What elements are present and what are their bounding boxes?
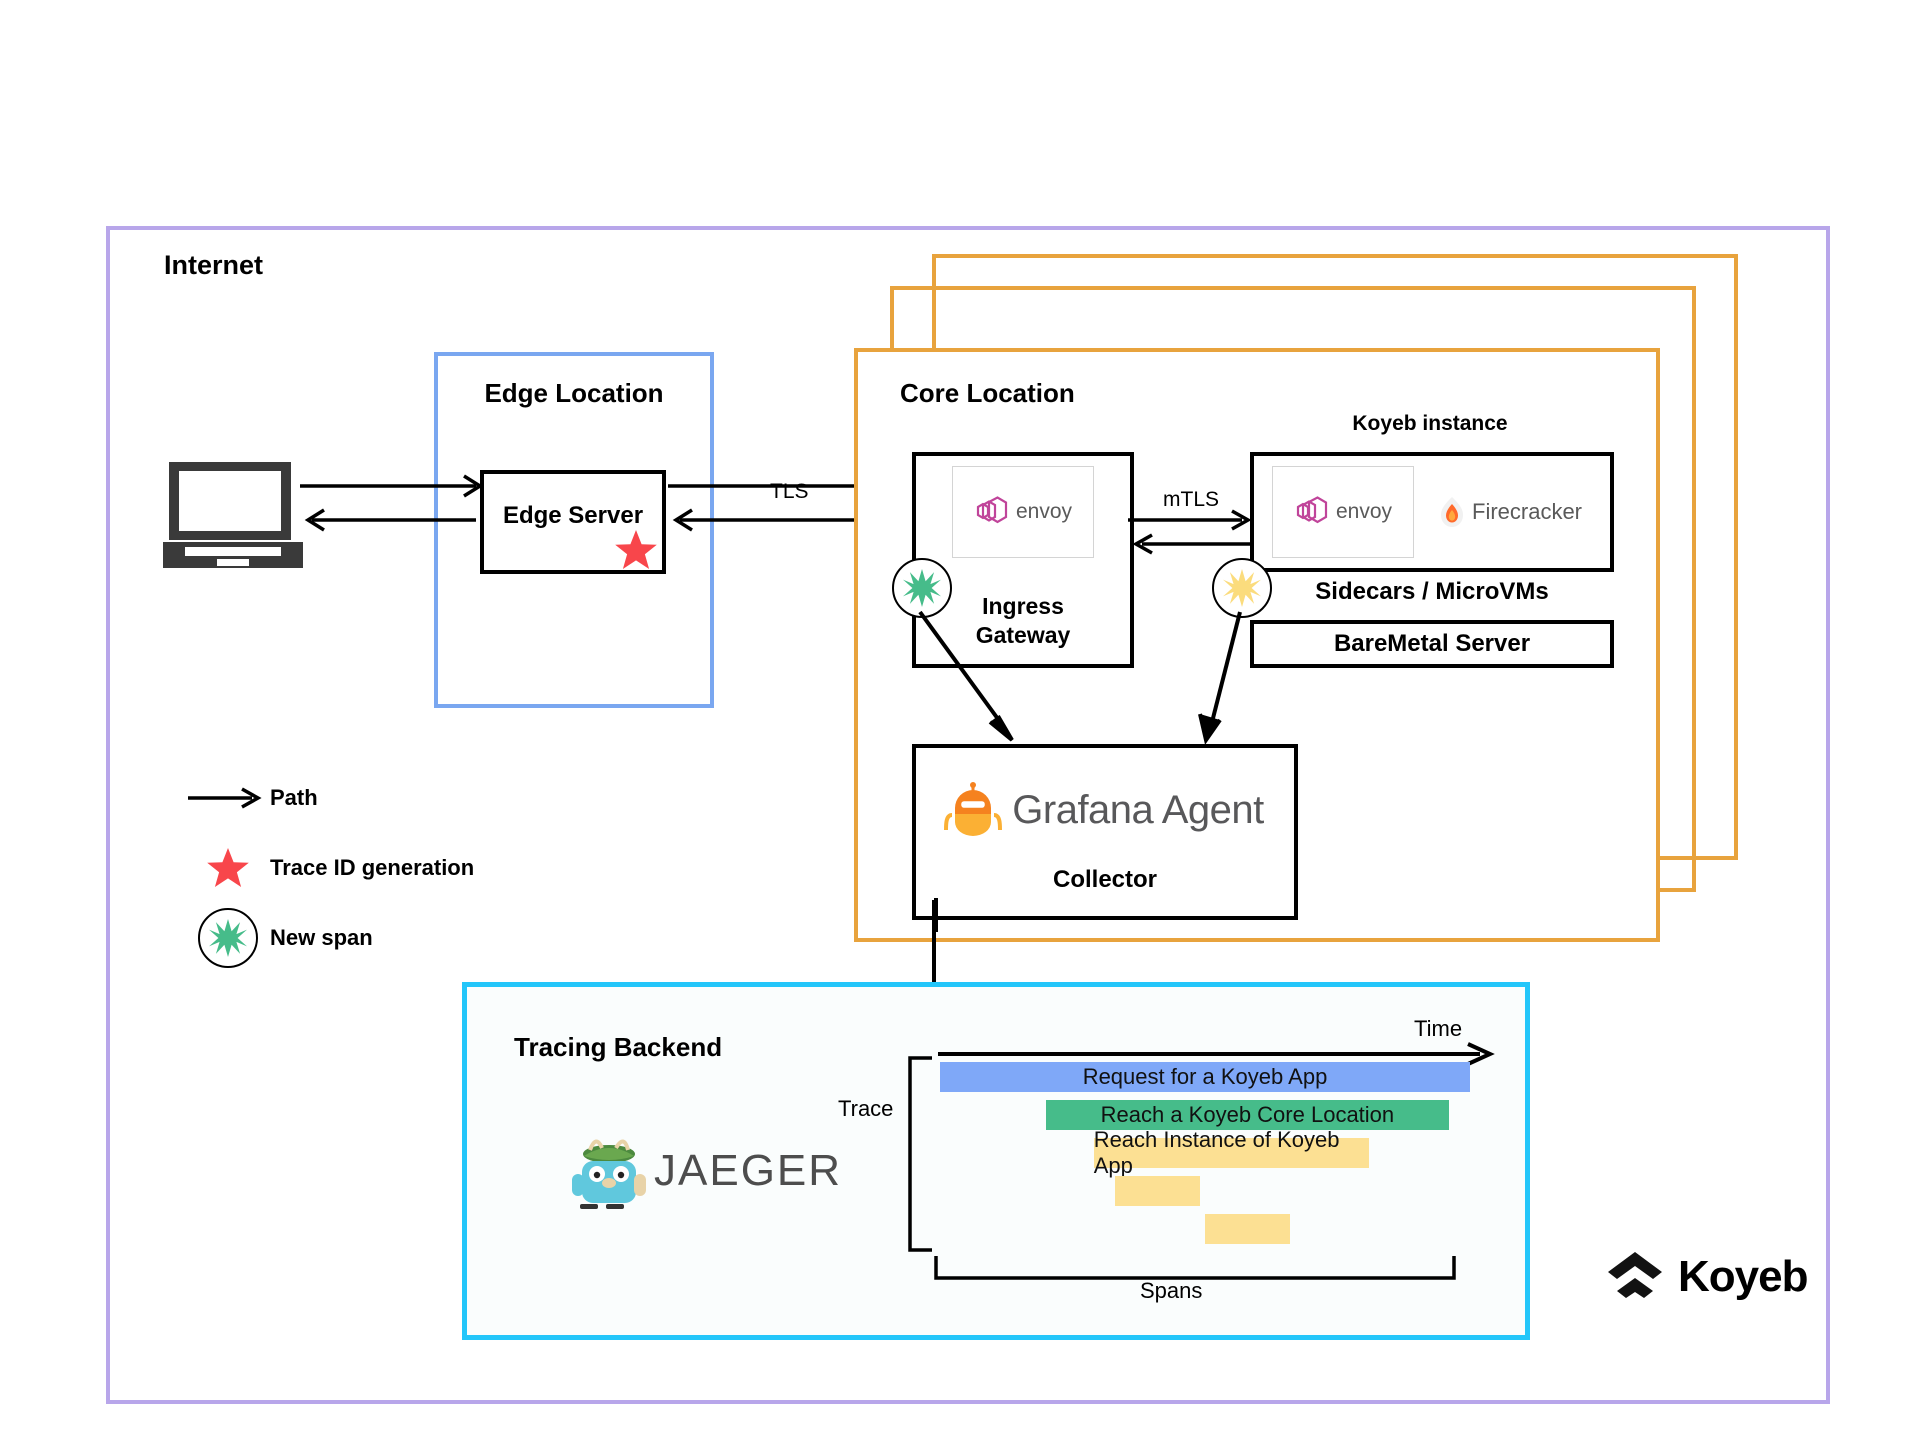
collector-label: Collector [912, 866, 1298, 894]
new-span-star-icon [1223, 569, 1261, 607]
span-bar: Reach a Koyeb Core Location [1046, 1100, 1449, 1130]
koyeb-wordmark: Koyeb [1678, 1252, 1807, 1302]
client-laptop-icon [163, 460, 303, 570]
internet-label: Internet [164, 250, 263, 281]
sidecars-microvms-label: Sidecars / MicroVMs [1250, 578, 1614, 606]
edge-server-label: Edge Server [480, 502, 666, 530]
new-span-star-icon [209, 919, 247, 957]
envoy-logo-sidecar: envoy [1272, 466, 1414, 558]
envoy-hexagon-icon [974, 496, 1010, 528]
envoy-hexagon-icon [1294, 496, 1330, 528]
legend-item-path: Path [186, 770, 606, 826]
legend-label-path: Path [270, 785, 318, 811]
grafana-agent-robot-icon [946, 782, 1000, 838]
laptop-to-edge-arrows [300, 470, 490, 545]
koyeb-chevron-icon [1606, 1248, 1664, 1306]
trace-id-generation-star-icon [614, 528, 658, 572]
span-bar: Reach Instance of Koyeb App [1094, 1138, 1370, 1168]
envoy-wordmark: envoy [1336, 500, 1392, 524]
jaeger-gopher-icon [566, 1128, 652, 1214]
jaeger-wordmark: JAEGER [654, 1146, 842, 1196]
firecracker-logo: Firecracker [1438, 496, 1582, 528]
new-span-badge-sidecar [1212, 558, 1272, 618]
new-span-star-icon [903, 569, 941, 607]
envoy-logo-ingress: envoy [952, 466, 1094, 558]
new-span-badge-icon [186, 908, 270, 968]
core-location-title: Core Location [900, 378, 1075, 409]
koyeb-instance-title: Koyeb instance [1250, 412, 1610, 436]
legend-item-trace-id: Trace ID generation [186, 840, 606, 896]
span-bar-chart: Request for a Koyeb AppReach a Koyeb Cor… [940, 1062, 1470, 1252]
edge-location-title: Edge Location [434, 378, 714, 409]
legend-label-trace-id: Trace ID generation [270, 855, 474, 881]
koyeb-brand-logo: Koyeb [1606, 1248, 1807, 1306]
span-bar [1205, 1214, 1290, 1244]
time-axis-label: Time [1414, 1016, 1462, 1042]
jaeger-logo: JAEGER [566, 1128, 842, 1214]
grafana-agent-wordmark: Grafana Agent [1012, 788, 1263, 833]
new-span-circle [198, 908, 258, 968]
trace-bracket-label: Trace [838, 1096, 893, 1122]
envoy-wordmark: envoy [1016, 500, 1072, 524]
trace-bracket [906, 1056, 936, 1257]
span-bar: Request for a Koyeb App [940, 1062, 1470, 1092]
tracing-backend-title: Tracing Backend [514, 1032, 722, 1063]
legend-label-new-span: New span [270, 925, 373, 951]
ingress-to-sidecar-arrows [1128, 506, 1258, 559]
firecracker-wordmark: Firecracker [1472, 499, 1582, 525]
path-arrow-icon [186, 787, 270, 809]
trace-id-generation-star-icon [186, 846, 270, 890]
new-span-badge-ingress [892, 558, 952, 618]
spans-bracket [934, 1256, 1458, 1287]
legend-item-new-span: New span [186, 910, 606, 966]
grafana-agent-logo-row: Grafana Agent [912, 782, 1298, 838]
span-bar [1115, 1176, 1200, 1206]
sidecar-to-collector-arrow [1200, 610, 1320, 765]
ingress-to-collector-arrow [918, 610, 1048, 765]
legend: Path Trace ID generation New span [186, 770, 606, 980]
firecracker-flame-icon [1438, 496, 1466, 528]
